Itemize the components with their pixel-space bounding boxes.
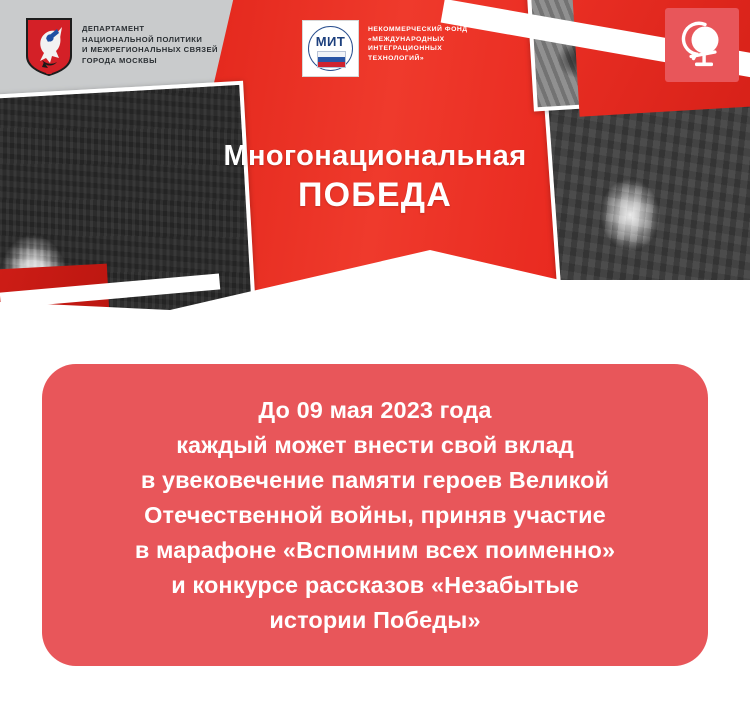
- poster-root: Департамент национальной политики и межр…: [0, 0, 750, 703]
- poster-title-line2: ПОБЕДА: [0, 174, 750, 216]
- russian-flag-icon: [317, 51, 346, 68]
- fund-text: Некоммерческий фонд «Международных интег…: [368, 20, 468, 63]
- announcement-text: До 09 мая 2023 года каждый может внести …: [117, 393, 633, 638]
- globe-icon: [665, 8, 739, 82]
- mit-logo-text: МИТ: [303, 34, 358, 49]
- poster-title: Многонациональная ПОБЕДА: [0, 138, 750, 216]
- poster-header: Департамент национальной политики и межр…: [0, 0, 750, 330]
- department-text: Департамент национальной политики и межр…: [82, 18, 218, 66]
- announcement-card: До 09 мая 2023 года каждый может внести …: [42, 364, 708, 666]
- fund-logo-block: МИТ Некоммерческий фонд «Международных и…: [302, 20, 468, 77]
- department-logo-block: Департамент национальной политики и межр…: [26, 18, 218, 76]
- moscow-coat-of-arms-icon: [26, 18, 72, 76]
- poster-title-line1: Многонациональная: [0, 138, 750, 174]
- mit-logo-icon: МИТ: [302, 20, 359, 77]
